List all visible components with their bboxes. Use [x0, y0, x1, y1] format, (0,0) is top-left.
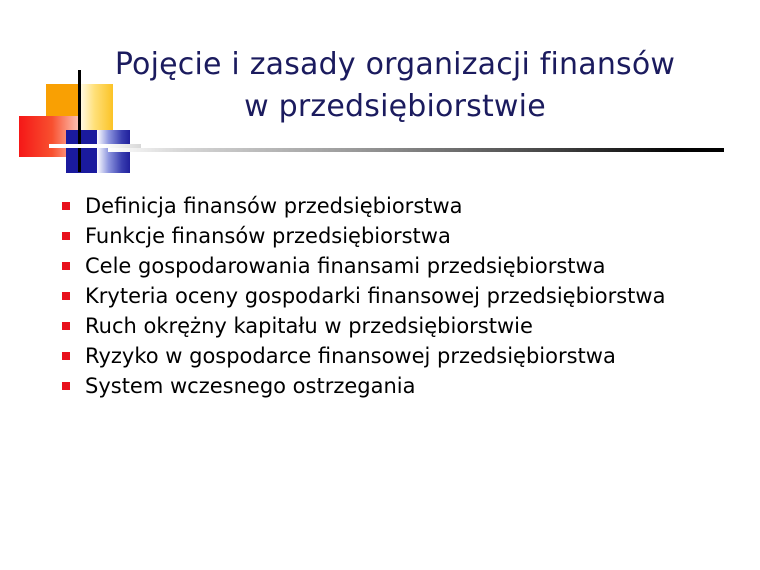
- list-item: System wczesnego ostrzegania: [62, 372, 752, 400]
- list-item: Ruch okrężny kapitału w przedsiębiorstwi…: [62, 312, 752, 340]
- bullet-square-icon: [62, 202, 70, 210]
- bullet-square-icon: [62, 262, 70, 270]
- list-item-label: Ruch okrężny kapitału w przedsiębiorstwi…: [85, 312, 730, 340]
- list-item: Definicja finansów przedsiębiorstwa: [62, 192, 752, 220]
- list-item-label: Funkcje finansów przedsiębiorstwa: [85, 222, 730, 250]
- bullet-square-icon: [62, 292, 70, 300]
- list-item: Cele gospodarowania finansami przedsiębi…: [62, 252, 752, 280]
- bullet-square-icon: [62, 232, 70, 240]
- slide-canvas: Pojęcie i zasady organizacji finansów w …: [0, 0, 760, 570]
- list-item: Funkcje finansów przedsiębiorstwa: [62, 222, 752, 250]
- bullet-square-icon: [62, 382, 70, 390]
- list-item-label: Definicja finansów przedsiębiorstwa: [85, 192, 730, 220]
- list-item-label: Kryteria oceny gospodarki finansowej prz…: [85, 282, 730, 310]
- slide-title: Pojęcie i zasady organizacji finansów w …: [60, 44, 730, 128]
- list-item-label: System wczesnego ostrzegania: [85, 372, 730, 400]
- bullet-square-icon: [62, 322, 70, 330]
- list-item: Kryteria oceny gospodarki finansowej prz…: [62, 282, 752, 310]
- logo-blue-square: [66, 130, 97, 173]
- bullet-square-icon: [62, 352, 70, 360]
- list-item-label: Cele gospodarowania finansami przedsiębi…: [85, 252, 730, 280]
- bullet-list: Definicja finansów przedsiębiorstwa Funk…: [62, 192, 752, 402]
- title-divider: [108, 148, 724, 152]
- list-item: Ryzyko w gospodarce finansowej przedsięb…: [62, 342, 752, 370]
- list-item-label: Ryzyko w gospodarce finansowej przedsięb…: [85, 342, 730, 370]
